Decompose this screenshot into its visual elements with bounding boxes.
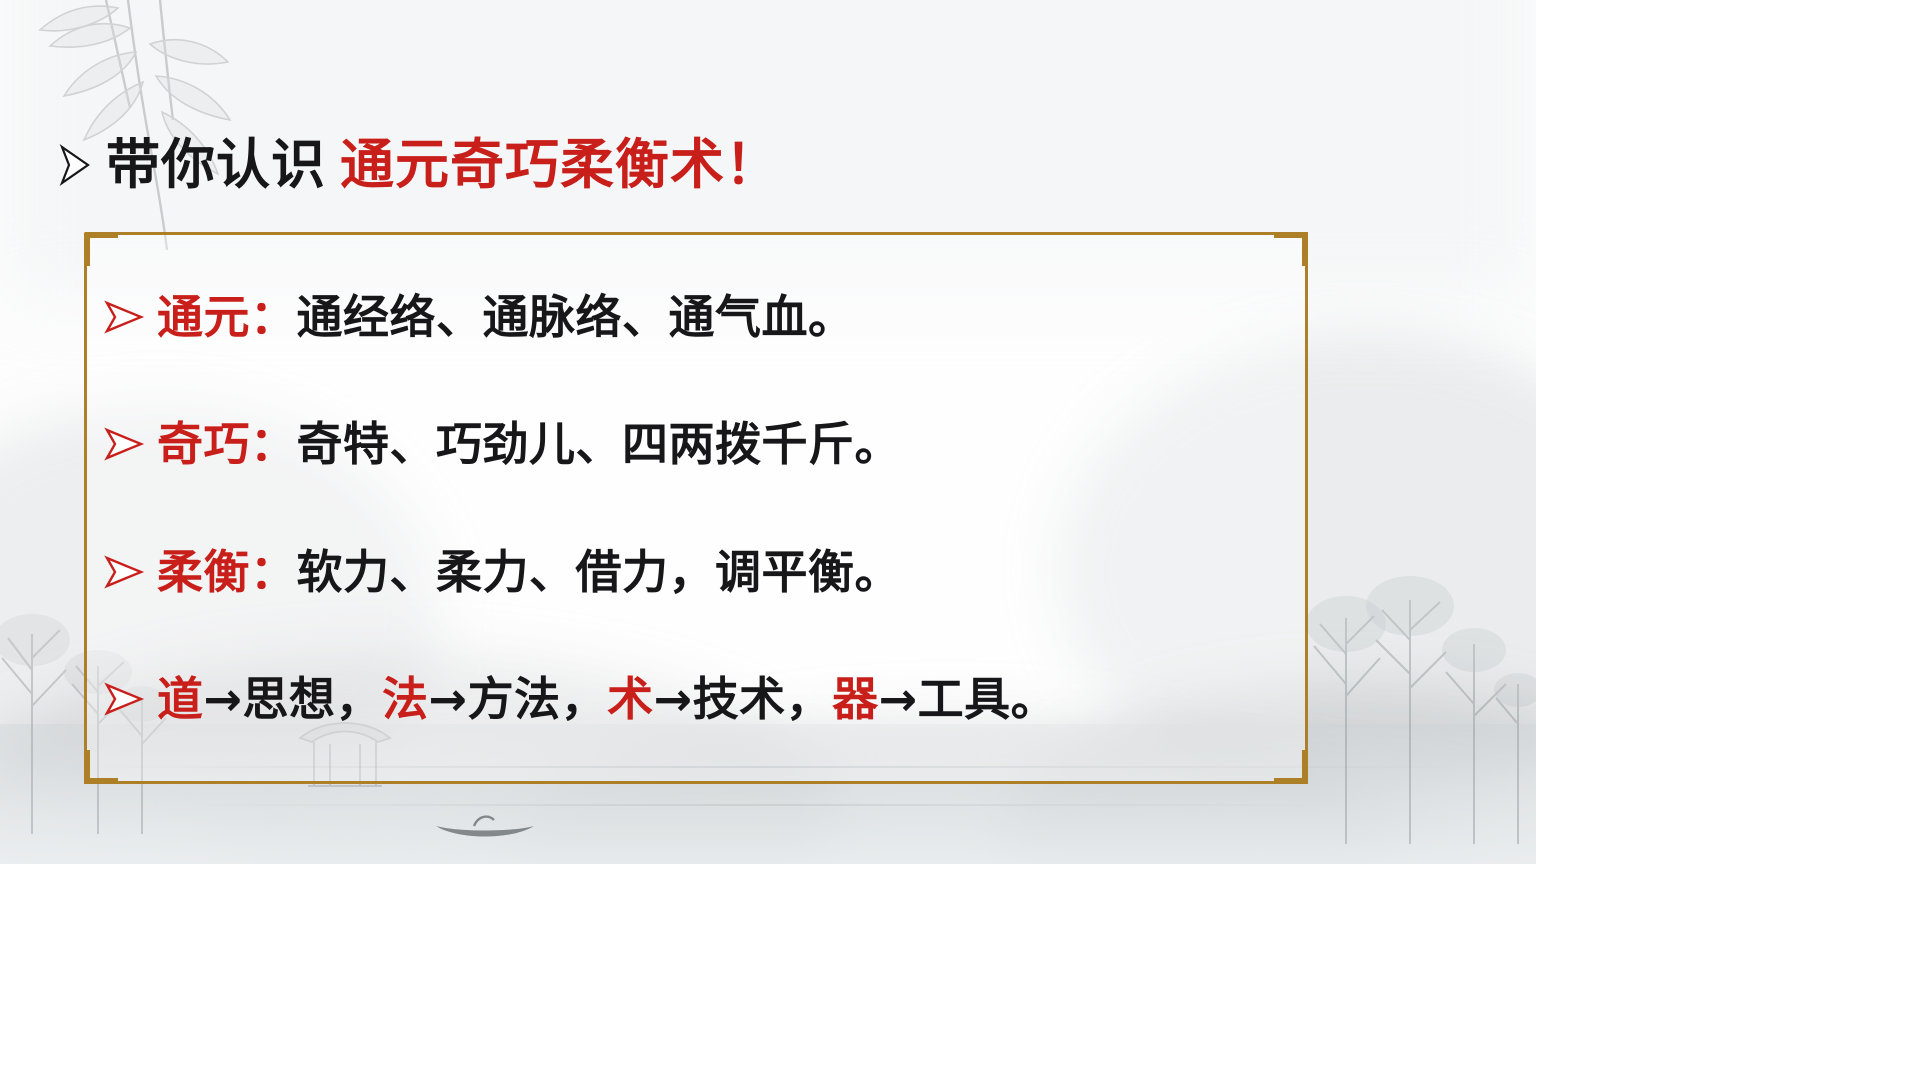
boat-illustration	[430, 800, 540, 842]
bullet-keyword: 柔衡：	[157, 548, 297, 596]
bullet-keyword: 通元：	[157, 293, 297, 341]
title-part-red: 通元奇巧柔衡术！	[340, 138, 780, 192]
bamboo-illustration	[10, 0, 340, 250]
list-item: 奇巧： 奇特、巧劲儿、四两拨千斤。	[87, 420, 1305, 468]
arrow-bullet-icon	[103, 555, 145, 589]
arrow-bullet-icon	[103, 300, 145, 334]
arrow-bullet-icon	[103, 427, 145, 461]
bullet-body-dao: →思想，	[204, 675, 383, 723]
trees-right-illustration	[1306, 544, 1536, 844]
bullet-body-fa: →方法，	[429, 675, 608, 723]
bullet-body-qi: →工具。	[879, 675, 1058, 723]
slide-title: 带你认识 通元奇巧柔衡术！	[58, 138, 780, 192]
title-part-black: 带你认识	[106, 138, 326, 192]
bullet-keyword-dao: 道	[157, 675, 204, 723]
bullet-list: 通元： 通经络、通脉络、通气血。 奇巧： 奇特、巧劲儿、四两拨千斤。 柔衡： 软…	[87, 235, 1305, 781]
bullet-body-shu: →技术，	[654, 675, 833, 723]
list-item: 柔衡： 软力、柔力、借力，调平衡。	[87, 548, 1305, 596]
content-frame: 通元： 通经络、通脉络、通气血。 奇巧： 奇特、巧劲儿、四两拨千斤。 柔衡： 软…	[84, 232, 1308, 784]
bullet-body: 软力、柔力、借力，调平衡。	[297, 548, 902, 596]
bullet-body: 奇特、巧劲儿、四两拨千斤。	[297, 420, 902, 468]
bullet-keyword-shu: 术	[607, 675, 654, 723]
arrow-bullet-icon	[58, 144, 92, 186]
arrow-bullet-icon	[103, 682, 145, 716]
river-shoreline-far	[180, 804, 1330, 806]
bullet-keyword: 奇巧：	[157, 420, 297, 468]
bullet-body: 通经络、通脉络、通气血。	[297, 293, 855, 341]
list-item: 道 →思想， 法 →方法， 术 →技术， 器 →工具。	[87, 675, 1305, 723]
bullet-keyword-qi: 器	[832, 675, 879, 723]
bullet-keyword-fa: 法	[382, 675, 429, 723]
list-item: 通元： 通经络、通脉络、通气血。	[87, 293, 1305, 341]
